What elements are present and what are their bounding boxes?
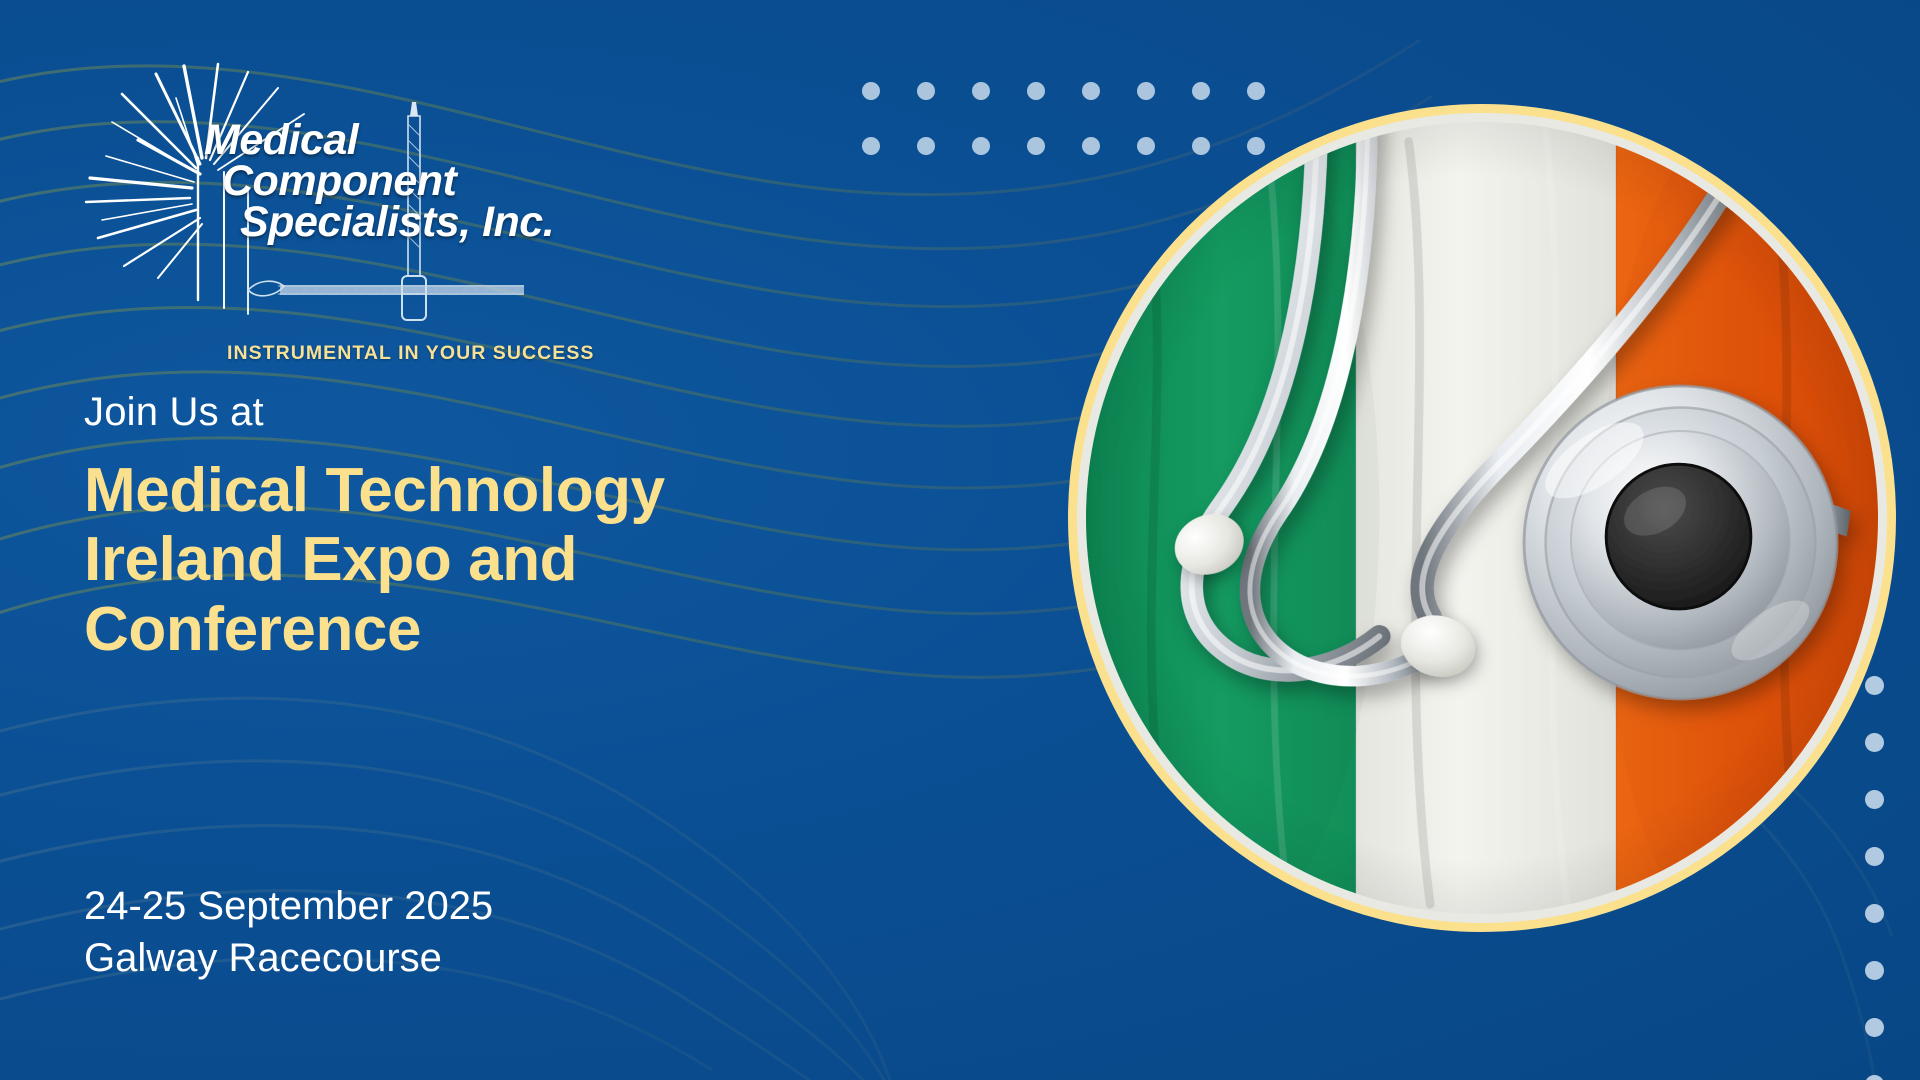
dot — [862, 137, 880, 155]
event-date: 24-25 September 2025 — [84, 880, 493, 932]
logo-line-3: Specialists, Inc. — [240, 202, 624, 243]
dot — [1082, 137, 1100, 155]
stethoscope-on-irish-flag-photo — [1086, 122, 1878, 914]
dot — [1865, 961, 1884, 980]
dot — [1865, 1075, 1884, 1080]
dot — [972, 137, 990, 155]
dot — [862, 82, 880, 100]
dot — [1865, 733, 1884, 752]
kicker-text: Join Us at — [84, 390, 964, 434]
event-details: 24-25 September 2025 Galway Racecourse — [84, 880, 493, 984]
dot-column-right — [1865, 676, 1884, 1080]
dot — [1027, 137, 1045, 155]
photo-circle-frame — [1068, 104, 1896, 932]
dot — [1247, 82, 1265, 100]
event-title: Medical Technology Ireland Expo and Conf… — [84, 456, 964, 664]
event-venue: Galway Racecourse — [84, 932, 493, 984]
dot — [917, 137, 935, 155]
dot — [1137, 82, 1155, 100]
company-logo: Medical Component Specialists, Inc. INST… — [72, 62, 632, 322]
event-title-line-1: Medical Technology — [84, 456, 964, 525]
headline-block: Join Us at Medical Technology Ireland Ex… — [84, 390, 964, 664]
dot — [1082, 82, 1100, 100]
dot — [1192, 137, 1210, 155]
dot — [1137, 137, 1155, 155]
event-title-line-3: Conference — [84, 595, 964, 664]
logo-wordmark: Medical Component Specialists, Inc. — [204, 120, 624, 243]
logo-tagline: INSTRUMENTAL IN YOUR SUCCESS — [227, 342, 594, 365]
dot — [1865, 904, 1884, 923]
dot — [1865, 790, 1884, 809]
logo-line-1: Medical — [204, 120, 624, 161]
dot — [1865, 847, 1884, 866]
dot — [1865, 1018, 1884, 1037]
promotional-banner: Medical Component Specialists, Inc. INST… — [0, 0, 1920, 1080]
dot — [917, 82, 935, 100]
dot-grid-top — [862, 82, 1302, 192]
dot — [1865, 676, 1884, 695]
dot — [972, 82, 990, 100]
logo-line-2: Component — [222, 161, 624, 202]
dot — [1192, 82, 1210, 100]
dot — [1247, 137, 1265, 155]
dot — [1027, 82, 1045, 100]
event-title-line-2: Ireland Expo and — [84, 525, 964, 594]
